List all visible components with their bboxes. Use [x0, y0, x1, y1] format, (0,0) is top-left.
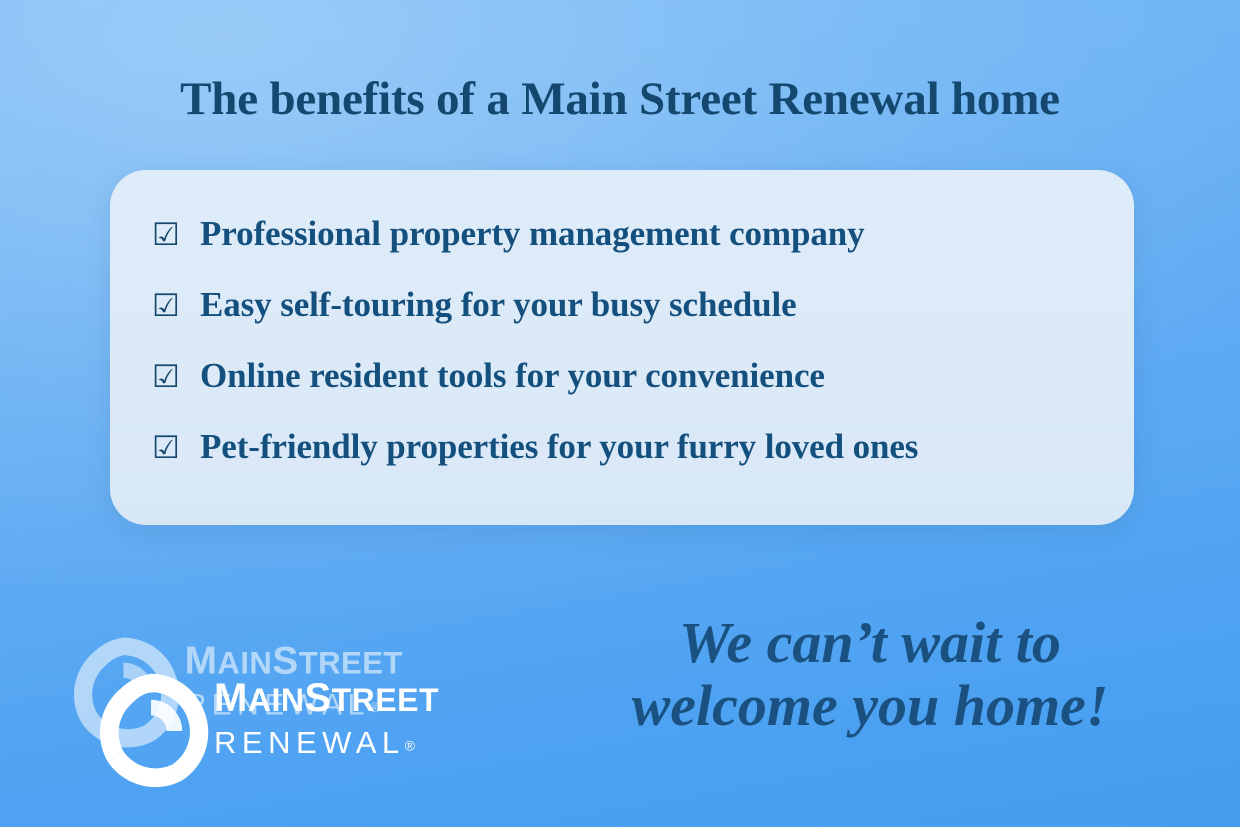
wordmark-s: S — [304, 676, 331, 720]
page-title: The benefits of a Main Street Renewal ho… — [0, 72, 1240, 126]
tagline-line-1: We can’t wait to — [560, 612, 1180, 675]
brand-logo-solid-copy: MAINSTREET RENEWAL® — [86, 656, 516, 806]
checkbox-checked-icon: ☑ — [148, 362, 200, 393]
brand-wordmark-solid: MAINSTREET RENEWAL® — [214, 678, 514, 758]
checkbox-checked-icon: ☑ — [148, 220, 200, 251]
checkbox-checked-icon: ☑ — [148, 291, 200, 322]
benefit-label: Online resident tools for your convenien… — [200, 356, 825, 396]
list-item: ☑ Pet-friendly properties for your furry… — [148, 427, 1134, 498]
wordmark-renewal: RENEWAL — [214, 725, 405, 760]
benefit-label: Professional property management company — [200, 214, 865, 254]
wordmark-treet: TREET — [332, 682, 439, 718]
benefit-label: Easy self-touring for your busy schedule — [200, 285, 797, 325]
wordmark-m: M — [214, 676, 248, 720]
brand-wordmark-main: MAINSTREET — [214, 678, 514, 718]
tagline-line-2: welcome you home! — [560, 675, 1180, 738]
brand-logo: MAINSTREET RENEWAL® MAINSTREET RENEWAL® — [46, 630, 516, 790]
registered-mark-icon: ® — [405, 737, 415, 753]
wordmark-ain: AIN — [248, 682, 305, 718]
benefits-card: ☑ Professional property management compa… — [110, 170, 1134, 525]
tagline: We can’t wait to welcome you home! — [560, 612, 1180, 737]
list-item: ☑ Professional property management compa… — [148, 214, 1134, 285]
brand-wordmark-sub: RENEWAL® — [214, 727, 514, 758]
list-item: ☑ Easy self-touring for your busy schedu… — [148, 285, 1134, 356]
benefits-list: ☑ Professional property management compa… — [110, 214, 1134, 498]
list-item: ☑ Online resident tools for your conveni… — [148, 356, 1134, 427]
benefit-label: Pet-friendly properties for your furry l… — [200, 427, 918, 467]
swirl-mark-icon — [86, 666, 216, 796]
checkbox-checked-icon: ☑ — [148, 433, 200, 464]
